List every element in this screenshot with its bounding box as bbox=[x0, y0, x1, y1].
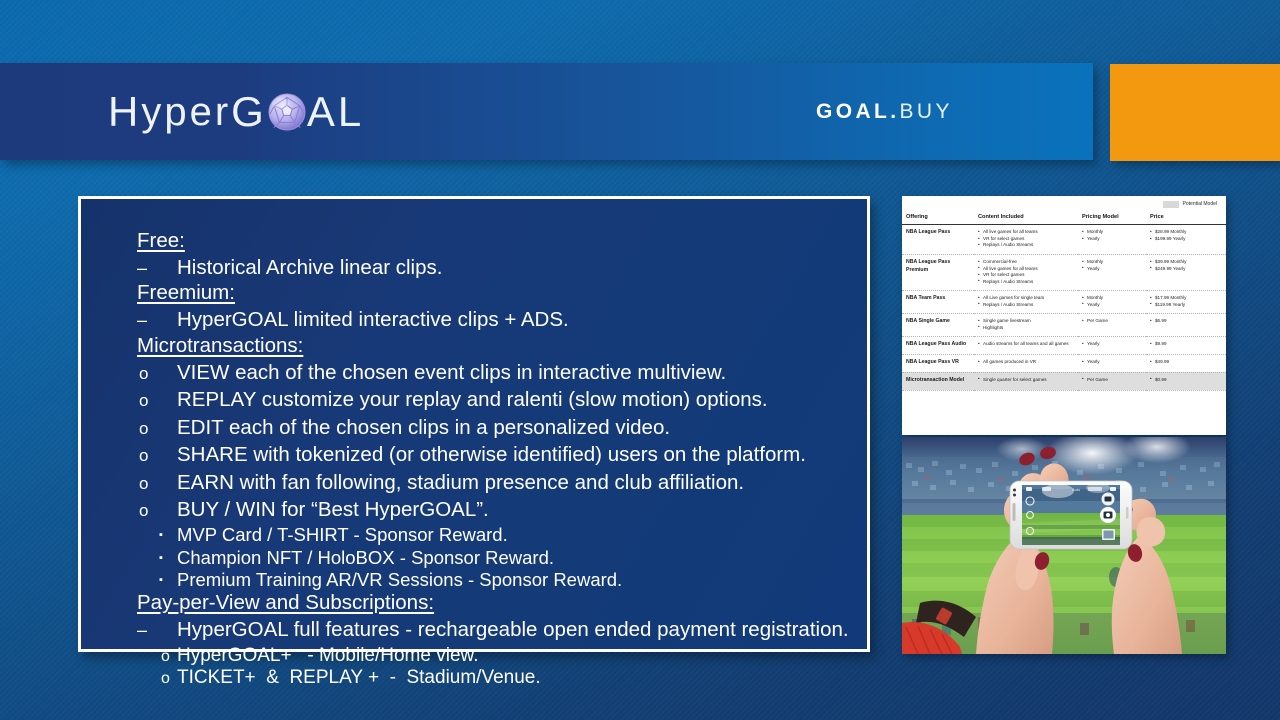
cell-pricing-model: MonthlyYearly bbox=[1078, 291, 1146, 314]
svg-text:Auto: Auto bbox=[1072, 487, 1081, 492]
cell-pricing-model-item: Yearly bbox=[1082, 236, 1142, 243]
list-item-label: HyperGOAL limited interactive clips + AD… bbox=[177, 310, 569, 331]
list-item: oEARN with fan following, stadium presen… bbox=[137, 469, 857, 497]
page-title: GOAL.BUY bbox=[816, 100, 953, 124]
cell-pricing-model-item: Yearly bbox=[1082, 302, 1142, 309]
header-bar: H yper G bbox=[0, 63, 1093, 160]
table-row: NBA Single GameSingle game livestreamHig… bbox=[902, 314, 1226, 337]
list-item: ▪Champion NFT / HoloBOX - Sponsor Reward… bbox=[137, 547, 857, 570]
logo-letter-h: H bbox=[108, 91, 141, 133]
cell-content-item: Replays / Audio Streams bbox=[978, 242, 1074, 249]
list-item-label: EARN with fan following, stadium presenc… bbox=[177, 473, 744, 494]
bullet-marker-icon: o bbox=[161, 671, 177, 687]
section-heading: Free: bbox=[137, 229, 857, 253]
cell-price-item: $0.99 bbox=[1150, 377, 1222, 384]
cell-content-item: All games produced in VR bbox=[978, 359, 1074, 366]
list-item: oTICKET+ & REPLAY + - Stadium/Venue. bbox=[137, 666, 857, 688]
list-item-label: MVP Card / T-SHIRT - Sponsor Reward. bbox=[177, 526, 508, 545]
bullet-marker-icon: ▪ bbox=[159, 530, 177, 541]
list-item-label: VIEW each of the chosen event clips in i… bbox=[177, 363, 726, 384]
bullet-marker-icon: o bbox=[137, 392, 177, 409]
cell-price-item: $49.99 bbox=[1150, 359, 1222, 366]
cell-content: Commercial-freeAll live games for all te… bbox=[974, 254, 1078, 290]
cell-pricing-model-item: Yearly bbox=[1082, 266, 1142, 273]
cell-content: All live games for all teamsVR for selec… bbox=[974, 225, 1078, 255]
table-row: NBA Team PassAll Live games for single t… bbox=[902, 291, 1226, 314]
cell-content: All Live games for single teamReplays / … bbox=[974, 291, 1078, 314]
cell-pricing-model-item: Yearly bbox=[1082, 341, 1142, 348]
page-title-light: BUY bbox=[900, 100, 953, 123]
cell-pricing-model-item: Yearly bbox=[1082, 359, 1142, 366]
pricing-table: Offering Content Included Pricing Model … bbox=[902, 214, 1226, 391]
cell-pricing-model: Per Game bbox=[1078, 314, 1146, 337]
bullet-marker-icon: o bbox=[137, 365, 177, 382]
photo-illustration: Auto bbox=[902, 437, 1226, 654]
list-item: oVIEW each of the chosen event clips in … bbox=[137, 359, 857, 387]
list-item: ▪Premium Training AR/VR Sessions - Spons… bbox=[137, 569, 857, 592]
section-heading-label: Freemium: bbox=[137, 283, 235, 304]
bullet-marker-icon: o bbox=[137, 447, 177, 464]
stadium-filming-photo: Auto bbox=[902, 437, 1226, 654]
soccer-ball-icon bbox=[268, 93, 306, 131]
bullet-marker-icon: o bbox=[137, 502, 177, 519]
section-heading-label: Free: bbox=[137, 231, 185, 252]
list-item-label: BUY / WIN for “Best HyperGOAL”. bbox=[177, 500, 489, 521]
cell-content-item: Highlights bbox=[978, 325, 1074, 332]
list-item-label: Premium Training AR/VR Sessions - Sponso… bbox=[177, 571, 622, 590]
pricing-legend: Potential Model bbox=[1163, 201, 1217, 208]
cell-price-item: $249.99 Yearly bbox=[1150, 266, 1222, 273]
cell-price: $39.99 Monthly$249.99 Yearly bbox=[1146, 254, 1226, 290]
cell-content: Single game livestreamHighlights bbox=[974, 314, 1078, 337]
list-item-label: Champion NFT / HoloBOX - Sponsor Reward. bbox=[177, 549, 554, 568]
cell-content-item: Single quarter for select games bbox=[978, 377, 1074, 384]
section-heading: Pay-per-View and Subscriptions: bbox=[137, 592, 857, 616]
cell-offering: NBA League Pass Audio bbox=[902, 337, 974, 355]
section-heading: Freemium: bbox=[137, 282, 857, 306]
list-item: ▪MVP Card / T-SHIRT - Sponsor Reward. bbox=[137, 524, 857, 547]
cell-pricing-model-item: Per Game bbox=[1082, 318, 1142, 325]
list-item-label: HyperGOAL+ - Mobile/Home view. bbox=[177, 646, 478, 665]
cell-price: $0.99 bbox=[1146, 372, 1226, 390]
content-panel: Free:–Historical Archive linear clips.Fr… bbox=[78, 196, 870, 652]
cell-pricing-model: Yearly bbox=[1078, 337, 1146, 355]
cell-price-item: $6.99 bbox=[1150, 318, 1222, 325]
cell-content: Audio streams for all teams and all game… bbox=[974, 337, 1078, 355]
list-item: –HyperGOAL full features - rechargeable … bbox=[137, 617, 857, 645]
cell-pricing-model-item: Per Game bbox=[1082, 377, 1142, 384]
list-item: –Historical Archive linear clips. bbox=[137, 254, 857, 282]
cell-price: $9.99 bbox=[1146, 337, 1226, 355]
cell-content: Single quarter for select games bbox=[974, 372, 1078, 390]
bullet-marker-icon: ▪ bbox=[159, 575, 177, 586]
table-row: NBA League Pass AudioAudio streams for a… bbox=[902, 337, 1226, 355]
list-item-label: REPLAY customize your replay and ralenti… bbox=[177, 390, 768, 411]
cell-content-item: Replays / Audio Streams bbox=[978, 302, 1074, 309]
cell-content-item: Replays / Audio Streams bbox=[978, 279, 1074, 286]
table-row: Microtransaction ModelSingle quarter for… bbox=[902, 372, 1226, 390]
orange-accent-block bbox=[1110, 64, 1280, 161]
cell-offering: Microtransaction Model bbox=[902, 372, 974, 390]
bullet-marker-icon: ▪ bbox=[159, 553, 177, 564]
section-heading-label: Pay-per-View and Subscriptions: bbox=[137, 593, 434, 614]
cell-content: All games produced in VR bbox=[974, 354, 1078, 372]
bullet-marker-icon: – bbox=[137, 311, 177, 329]
cell-offering: NBA League Pass bbox=[902, 225, 974, 255]
list-item: oREPLAY customize your replay and ralent… bbox=[137, 387, 857, 415]
page-title-bold: GOAL. bbox=[816, 100, 900, 123]
list-item-label: EDIT each of the chosen clips in a perso… bbox=[177, 418, 670, 439]
table-header-row: Offering Content Included Pricing Model … bbox=[902, 214, 1226, 225]
table-row: NBA League PassAll live games for all te… bbox=[902, 225, 1226, 255]
feature-bullet-list: Free:–Historical Archive linear clips.Fr… bbox=[137, 229, 857, 688]
list-item-label: SHARE with tokenized (or otherwise ident… bbox=[177, 445, 806, 466]
hypergoal-logo: H yper G bbox=[108, 91, 364, 133]
section-heading: Microtransactions: bbox=[137, 334, 857, 358]
cell-price: $49.99 bbox=[1146, 354, 1226, 372]
list-item: oSHARE with tokenized (or otherwise iden… bbox=[137, 442, 857, 470]
cell-offering: NBA Single Game bbox=[902, 314, 974, 337]
cell-offering: NBA League Pass Premium bbox=[902, 254, 974, 290]
legend-swatch-icon bbox=[1163, 201, 1179, 208]
pricing-table-body: NBA League PassAll live games for all te… bbox=[902, 225, 1226, 390]
cell-content-item: Audio streams for all teams and all game… bbox=[978, 341, 1074, 348]
list-item: oEDIT each of the chosen clips in a pers… bbox=[137, 414, 857, 442]
cell-pricing-model: MonthlyYearly bbox=[1078, 225, 1146, 255]
table-row: NBA League Pass VRAll games produced in … bbox=[902, 354, 1226, 372]
list-item-label: Historical Archive linear clips. bbox=[177, 258, 442, 279]
cell-price-item: $119.99 Yearly bbox=[1150, 302, 1222, 309]
bullet-marker-icon: – bbox=[137, 259, 177, 277]
cell-pricing-model: Yearly bbox=[1078, 354, 1146, 372]
section-heading-label: Microtransactions: bbox=[137, 336, 303, 357]
cell-price-item: $199.99 Yearly bbox=[1150, 236, 1222, 243]
list-item: oHyperGOAL+ - Mobile/Home view. bbox=[137, 644, 857, 666]
logo-text-al: AL bbox=[307, 91, 364, 133]
cell-offering: NBA Team Pass bbox=[902, 291, 974, 314]
list-item-label: TICKET+ & REPLAY + - Stadium/Venue. bbox=[177, 668, 541, 687]
list-item: oBUY / WIN for “Best HyperGOAL”. bbox=[137, 497, 857, 525]
list-item: –HyperGOAL limited interactive clips + A… bbox=[137, 307, 857, 335]
column-header-content: Content Included bbox=[974, 214, 1078, 225]
cell-price-item: $9.99 bbox=[1150, 341, 1222, 348]
bullet-marker-icon: – bbox=[137, 621, 177, 639]
bullet-marker-icon: o bbox=[161, 649, 177, 665]
bullet-marker-icon: o bbox=[137, 420, 177, 437]
legend-label: Potential Model bbox=[1183, 201, 1217, 208]
column-header-pricing-model: Pricing Model bbox=[1078, 214, 1146, 225]
table-row: NBA League Pass PremiumCommercial-freeAl… bbox=[902, 254, 1226, 290]
cell-pricing-model: MonthlyYearly bbox=[1078, 254, 1146, 290]
logo-letter-g: G bbox=[231, 91, 267, 133]
cell-price: $17.99 Monthly$119.99 Yearly bbox=[1146, 291, 1226, 314]
pricing-table-image: Potential Model Offering Content Include… bbox=[902, 196, 1226, 435]
column-header-offering: Offering bbox=[902, 214, 974, 225]
list-item-label: HyperGOAL full features - rechargeable o… bbox=[177, 620, 849, 641]
logo-text-yper: yper bbox=[141, 92, 231, 132]
cell-price: $28.99 Monthly$199.99 Yearly bbox=[1146, 225, 1226, 255]
column-header-price: Price bbox=[1146, 214, 1226, 225]
cell-offering: NBA League Pass VR bbox=[902, 354, 974, 372]
bullet-marker-icon: o bbox=[137, 475, 177, 492]
cell-pricing-model: Per Game bbox=[1078, 372, 1146, 390]
cell-price: $6.99 bbox=[1146, 314, 1226, 337]
